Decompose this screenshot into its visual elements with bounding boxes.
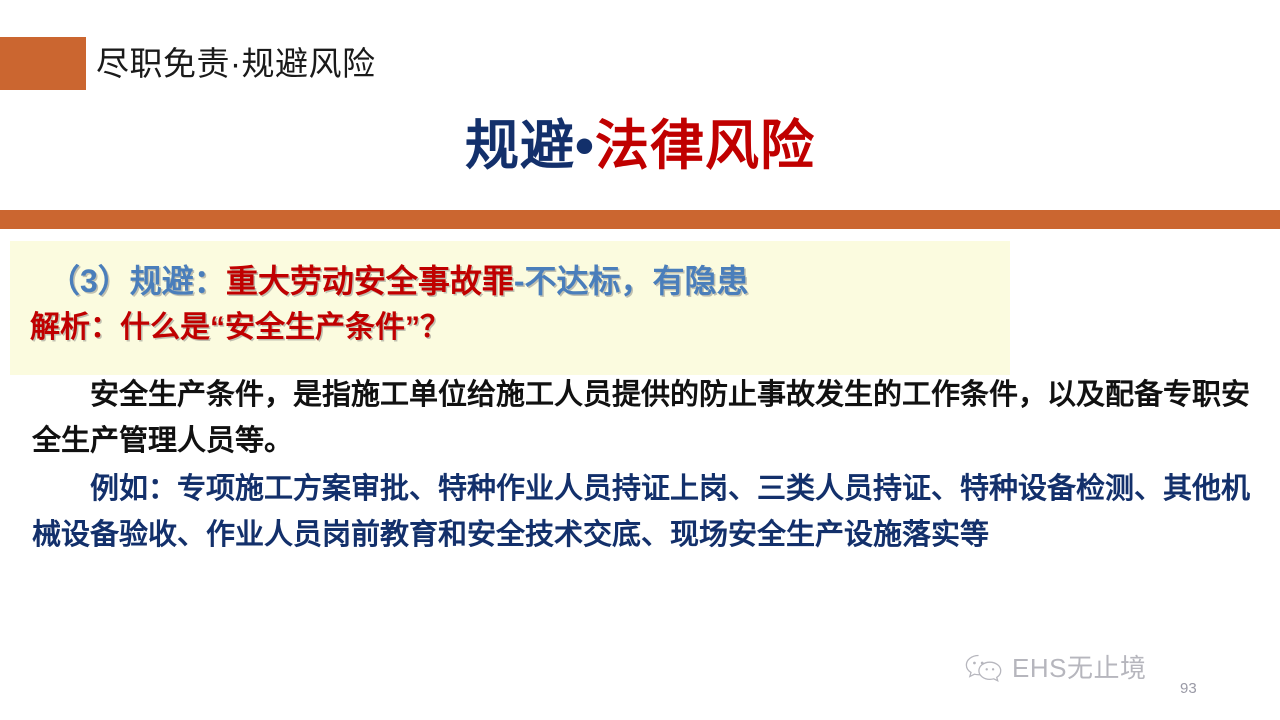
highlight-heading-line-1: （3）规避：重大劳动安全事故罪-不达标，有隐患 — [48, 258, 749, 304]
body-paragraph-definition: 安全生产条件，是指施工单位给施工人员提供的防止事故发生的工作条件，以及配备专职安… — [32, 372, 1250, 464]
page-title-part-red: 法律风险 — [595, 116, 815, 176]
watermark-text: EHS无止境 — [1012, 653, 1146, 683]
page-title-separator: • — [575, 116, 595, 176]
highlight-heading-line-2: 解析：什么是“安全生产条件”？ — [30, 306, 450, 350]
header-accent-block — [0, 37, 86, 90]
slide-canvas: 尽职免责·规避风险 规避•法律风险 （3）规避：重大劳动安全事故罪-不达标，有隐… — [0, 0, 1280, 720]
wechat-icon — [964, 652, 1004, 684]
body-paragraph-examples: 例如：专项施工方案审批、特种作业人员持证上岗、三类人员持证、特种设备检测、其他机… — [32, 466, 1250, 558]
highlight-heading-suffix: -不达标，有隐患 — [514, 263, 749, 299]
highlight-heading-prefix: （3）规避： — [48, 263, 226, 299]
page-title-part-blue: 规避 — [465, 116, 575, 176]
divider-bar — [0, 210, 1280, 229]
page-number: 93 — [1180, 680, 1197, 698]
watermark: EHS无止境 — [964, 645, 1240, 691]
page-title: 规避•法律风险 — [0, 108, 1280, 184]
highlight-heading-crime-name: 重大劳动安全事故罪 — [226, 263, 514, 299]
header-kicker-text: 尽职免责·规避风险 — [96, 40, 376, 88]
